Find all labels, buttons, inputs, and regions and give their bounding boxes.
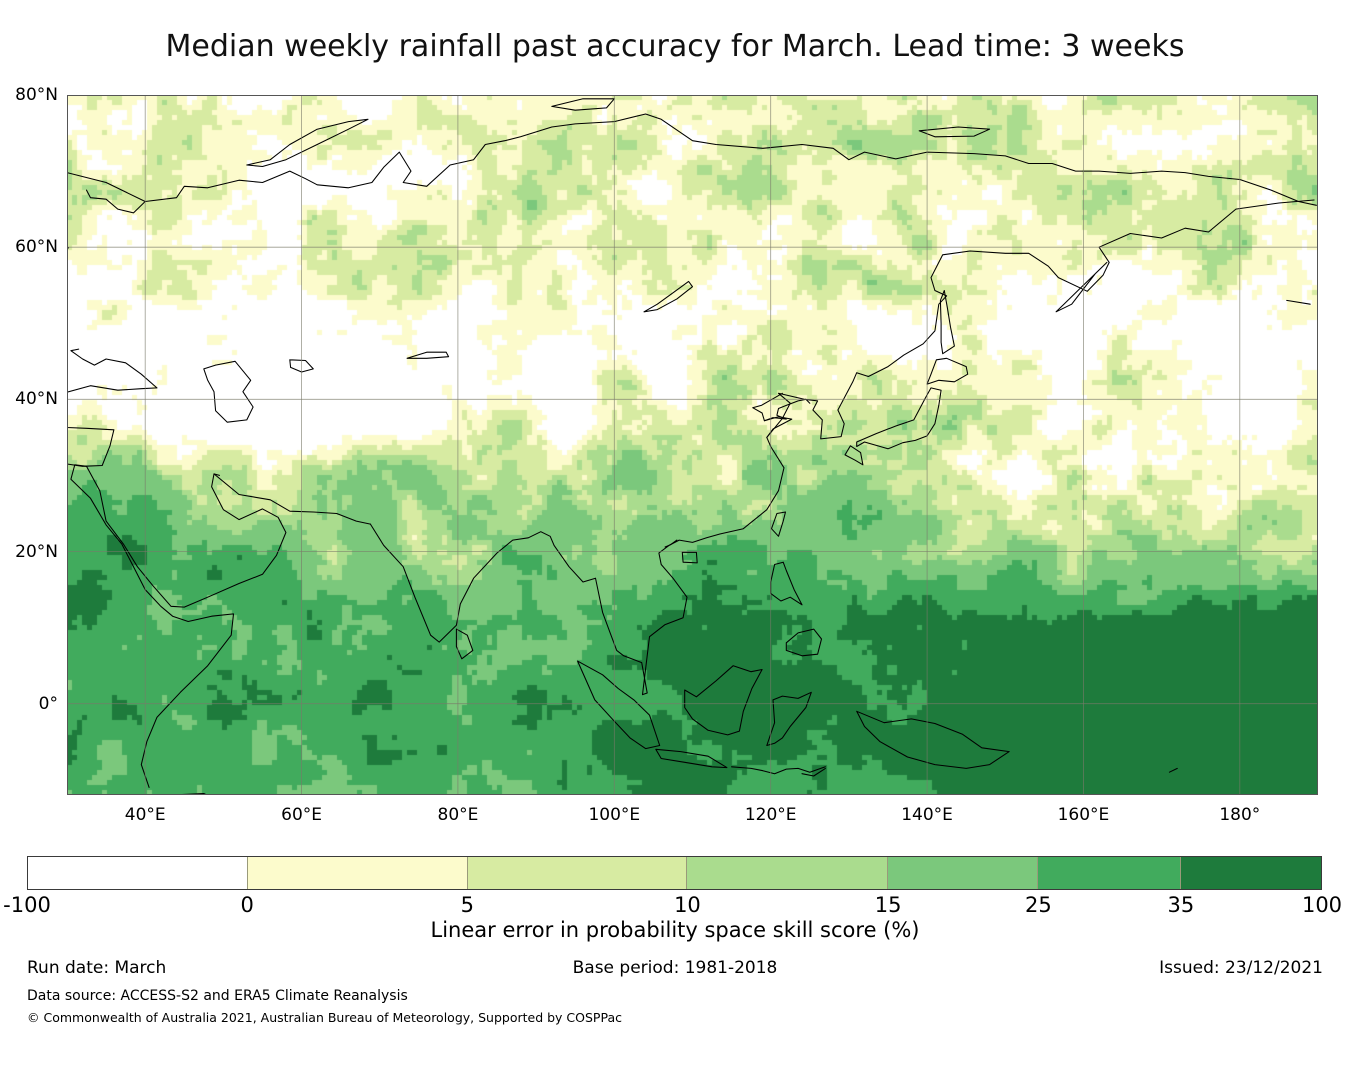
map-plot-area (67, 95, 1318, 795)
lat-tick-label: 80°N (0, 85, 58, 105)
lon-tick-label: 120°E (701, 805, 841, 825)
colorbar-segment (247, 857, 467, 889)
colorbar-tick-label: -100 (0, 893, 87, 917)
colorbar (27, 856, 1322, 890)
page-title: Median weekly rainfall past accuracy for… (0, 30, 1350, 64)
colorbar-segment (686, 857, 886, 889)
data-source-text: Data source: ACCESS-S2 and ERA5 Climate … (27, 988, 408, 1004)
colorbar-tick-label: 15 (828, 893, 948, 917)
lon-tick-label: 160°E (1013, 805, 1153, 825)
base-period-text: Base period: 1981-2018 (0, 958, 1350, 978)
colorbar-tick-label: 0 (187, 893, 307, 917)
colorbar-gradient (27, 856, 1322, 890)
colorbar-tick-label: 25 (978, 893, 1098, 917)
lat-tick-label: 60°N (0, 237, 58, 257)
lon-tick-label: 80°E (388, 805, 528, 825)
colorbar-segment (467, 857, 687, 889)
issued-date-text: Issued: 23/12/2021 (1159, 958, 1323, 978)
lon-tick-label: 40°E (75, 805, 215, 825)
lat-tick-label: 40°N (0, 389, 58, 409)
colorbar-segment (28, 857, 247, 889)
colorbar-tick-label: 5 (407, 893, 527, 917)
colorbar-segment (1037, 857, 1180, 889)
lat-tick-label: 0° (0, 694, 58, 714)
lat-tick-label: 20°N (0, 542, 58, 562)
colorbar-segment (887, 857, 1037, 889)
colorbar-tick-label: 10 (627, 893, 747, 917)
colorbar-label: Linear error in probability space skill … (0, 918, 1350, 942)
colorbar-tick-label: 35 (1121, 893, 1241, 917)
colorbar-segment (1180, 857, 1321, 889)
lon-tick-label: 180° (1170, 805, 1310, 825)
footer-row: Run date: March Base period: 1981-2018 I… (0, 958, 1350, 982)
colorbar-tick-label: 100 (1262, 893, 1350, 917)
lon-tick-label: 100°E (544, 805, 684, 825)
lon-tick-label: 140°E (857, 805, 997, 825)
copyright-text: © Commonwealth of Australia 2021, Austra… (27, 1010, 622, 1025)
graticule-overlay (67, 95, 1318, 795)
lon-tick-label: 60°E (232, 805, 372, 825)
